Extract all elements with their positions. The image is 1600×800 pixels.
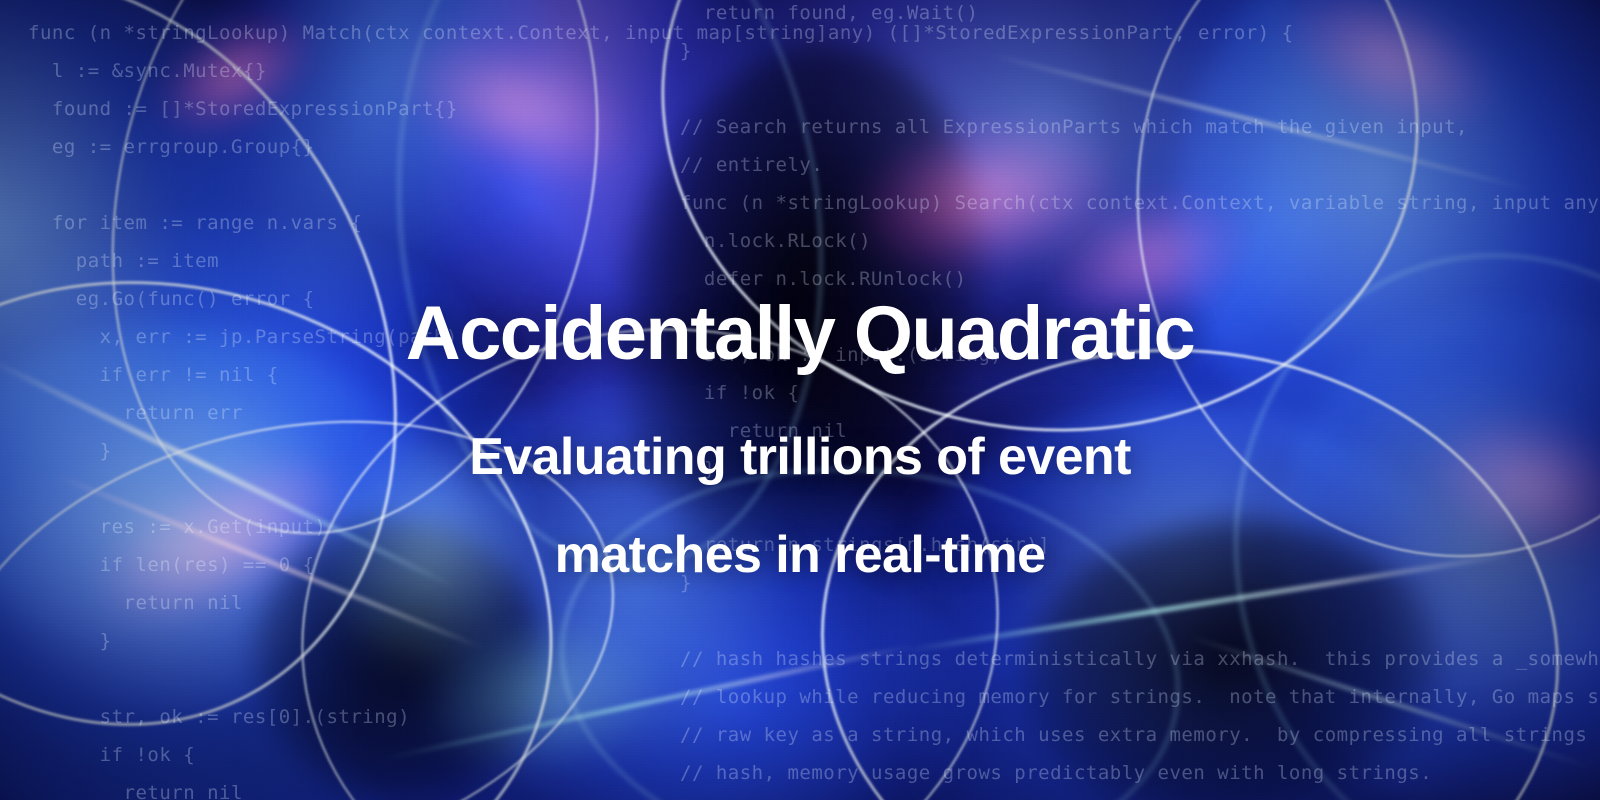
code-line xyxy=(680,70,1600,108)
page-subtitle-line-1: Evaluating trillions of event xyxy=(0,408,1600,506)
headline-block: Accidentally Quadratic Evaluating trilli… xyxy=(0,296,1600,604)
code-line: func (n *stringLookup) hash(input string… xyxy=(680,792,1600,800)
code-line: func (n *stringLookup) Search(ctx contex… xyxy=(680,184,1600,222)
code-line: } xyxy=(680,32,1600,70)
code-line: // Search returns all ExpressionParts wh… xyxy=(680,108,1600,146)
code-line: // hash hashes strings deterministically… xyxy=(680,640,1600,678)
code-line: return found, eg.Wait() xyxy=(680,0,1600,32)
page-subtitle: Evaluating trillions of event matches in… xyxy=(0,408,1600,604)
page-title: Accidentally Quadratic xyxy=(0,296,1600,372)
code-line: // entirely. xyxy=(680,146,1600,184)
code-line: // raw key as a string, which uses extra… xyxy=(680,716,1600,754)
code-line: // lookup while reducing memory for stri… xyxy=(680,678,1600,716)
code-line xyxy=(680,602,1600,640)
hero-banner: func (n *stringLookup) Match(ctx context… xyxy=(0,0,1600,800)
page-subtitle-line-2: matches in real-time xyxy=(0,506,1600,604)
code-line: n.lock.RLock() xyxy=(680,222,1600,260)
code-line: // hash, memory usage grows predictably … xyxy=(680,754,1600,792)
